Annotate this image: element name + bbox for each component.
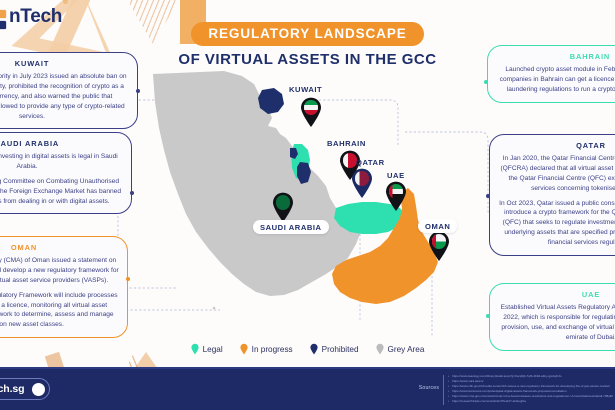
legend-item-prohibited[interactable]: Prohibited: [310, 343, 359, 355]
map-fleck-3: [213, 307, 216, 310]
legend-item-in-progress[interactable]: In progress: [240, 343, 293, 355]
map-region-saudi-arabia: [153, 71, 362, 296]
sources-block: Sources https://www.leanlogy.com/library…: [419, 371, 613, 409]
legend: Legal In progress Prohibited Grey Area: [0, 343, 615, 355]
info-card-paragraph: Capital Market Authority (CMA) of Oman i…: [0, 256, 119, 286]
map-label-saudi-arabia: SAUDI ARABIA: [253, 220, 329, 234]
anchor-dot-oman: [126, 277, 130, 281]
sources-label: Sources: [419, 385, 439, 391]
source-item[interactable]: https://researchtrade.com/en/article/47f…: [448, 399, 613, 404]
info-card-paragraph: Capital Markets Authority in July 2023 i…: [0, 72, 129, 121]
legend-pin-legal-icon: [191, 343, 199, 355]
title-subtitle: OF VIRTUAL ASSETS IN THE GCC: [0, 51, 615, 68]
anchor-dot-kuwait: [136, 89, 140, 93]
legend-label: Prohibited: [322, 345, 359, 354]
map-label-qatar: QATAR: [356, 158, 385, 167]
info-card-paragraph: However, the Standing Committee on Comba…: [0, 177, 123, 207]
info-card-oman[interactable]: OMAN Capital Market Authority (CMA) of O…: [0, 236, 128, 338]
anchor-dot-uae: [486, 314, 490, 318]
logo-wordmark: nTech: [9, 6, 62, 28]
website-url: .leantech.sg: [0, 383, 25, 395]
legend-label: Legal: [203, 345, 223, 354]
info-card-qatar[interactable]: QATAR In Jan 2020, the Qatar Financial C…: [489, 134, 615, 256]
infographic-canvas: nTech ® REGULATORY LANDSCAPE OF VIRTUAL …: [0, 0, 615, 410]
website-chip[interactable]: .leantech.sg: [0, 378, 50, 400]
footer: .leantech.sg Sources https://www.leanlog…: [0, 369, 615, 410]
info-card-paragraph: The Virtual Assets Regulatory Framework …: [0, 291, 119, 331]
anchor-dot-qatar: [486, 194, 490, 198]
info-card-title: OMAN: [0, 243, 119, 252]
page-title: REGULATORY LANDSCAPE OF VIRTUAL ASSETS I…: [0, 22, 615, 68]
info-card-paragraph: Buying, trading, and investing in digita…: [0, 152, 123, 172]
legend-label: Grey Area: [388, 345, 425, 354]
map-pin-qatar[interactable]: [351, 168, 373, 198]
map-label-oman: OMAN: [418, 219, 457, 233]
title-pill: REGULATORY LANDSCAPE: [191, 22, 423, 46]
info-card-uae[interactable]: UAE Established Virtual Assets Regulator…: [489, 283, 615, 351]
legend-item-legal[interactable]: Legal: [191, 343, 223, 355]
info-card-title: UAE: [498, 290, 615, 299]
map-pin-oman[interactable]: [428, 231, 450, 261]
info-card-paragraph: In Jan 2020, the Qatar Financial Centre …: [498, 154, 615, 194]
anchor-dot-bahrain: [484, 80, 488, 84]
info-card-paragraph: Launched crypto asset module in Feb 2019…: [496, 65, 615, 95]
info-card-paragraph: Established Virtual Assets Regulatory Au…: [498, 303, 615, 343]
legend-pin-in-progress-icon: [240, 343, 248, 355]
info-card-title: QATAR: [498, 141, 615, 150]
map-label-kuwait: KUWAIT: [289, 85, 322, 94]
legend-label: In progress: [252, 345, 293, 354]
map-label-bahrain: BAHRAIN: [327, 139, 366, 148]
website-chip-dot-icon: [32, 383, 45, 396]
info-card-saudi-arabia[interactable]: SAUDI ARABIA Buying, trading, and invest…: [0, 132, 132, 214]
map-pin-kuwait[interactable]: [300, 97, 322, 127]
legend-pin-grey-area-icon: [376, 343, 384, 355]
info-card-title: SAUDI ARABIA: [0, 139, 123, 148]
map-pin-uae[interactable]: [385, 181, 407, 211]
anchor-dot-saudi-arabia: [130, 191, 134, 195]
info-card-paragraph: In Oct 2023, Qatar issued a public consu…: [498, 199, 615, 248]
map-pin-saudi-arabia[interactable]: [272, 192, 294, 222]
legend-pin-prohibited-icon: [310, 343, 318, 355]
legend-item-grey-area[interactable]: Grey Area: [376, 343, 425, 355]
logo-registered-icon: ®: [63, 0, 68, 6]
map-label-uae: UAE: [387, 171, 405, 180]
sources-list: https://www.leanlogy.com/library/detail.…: [448, 371, 613, 404]
brand-logo: nTech ®: [0, 6, 67, 28]
sources-divider: [443, 375, 444, 405]
logo-glyph-icon: [0, 9, 8, 31]
